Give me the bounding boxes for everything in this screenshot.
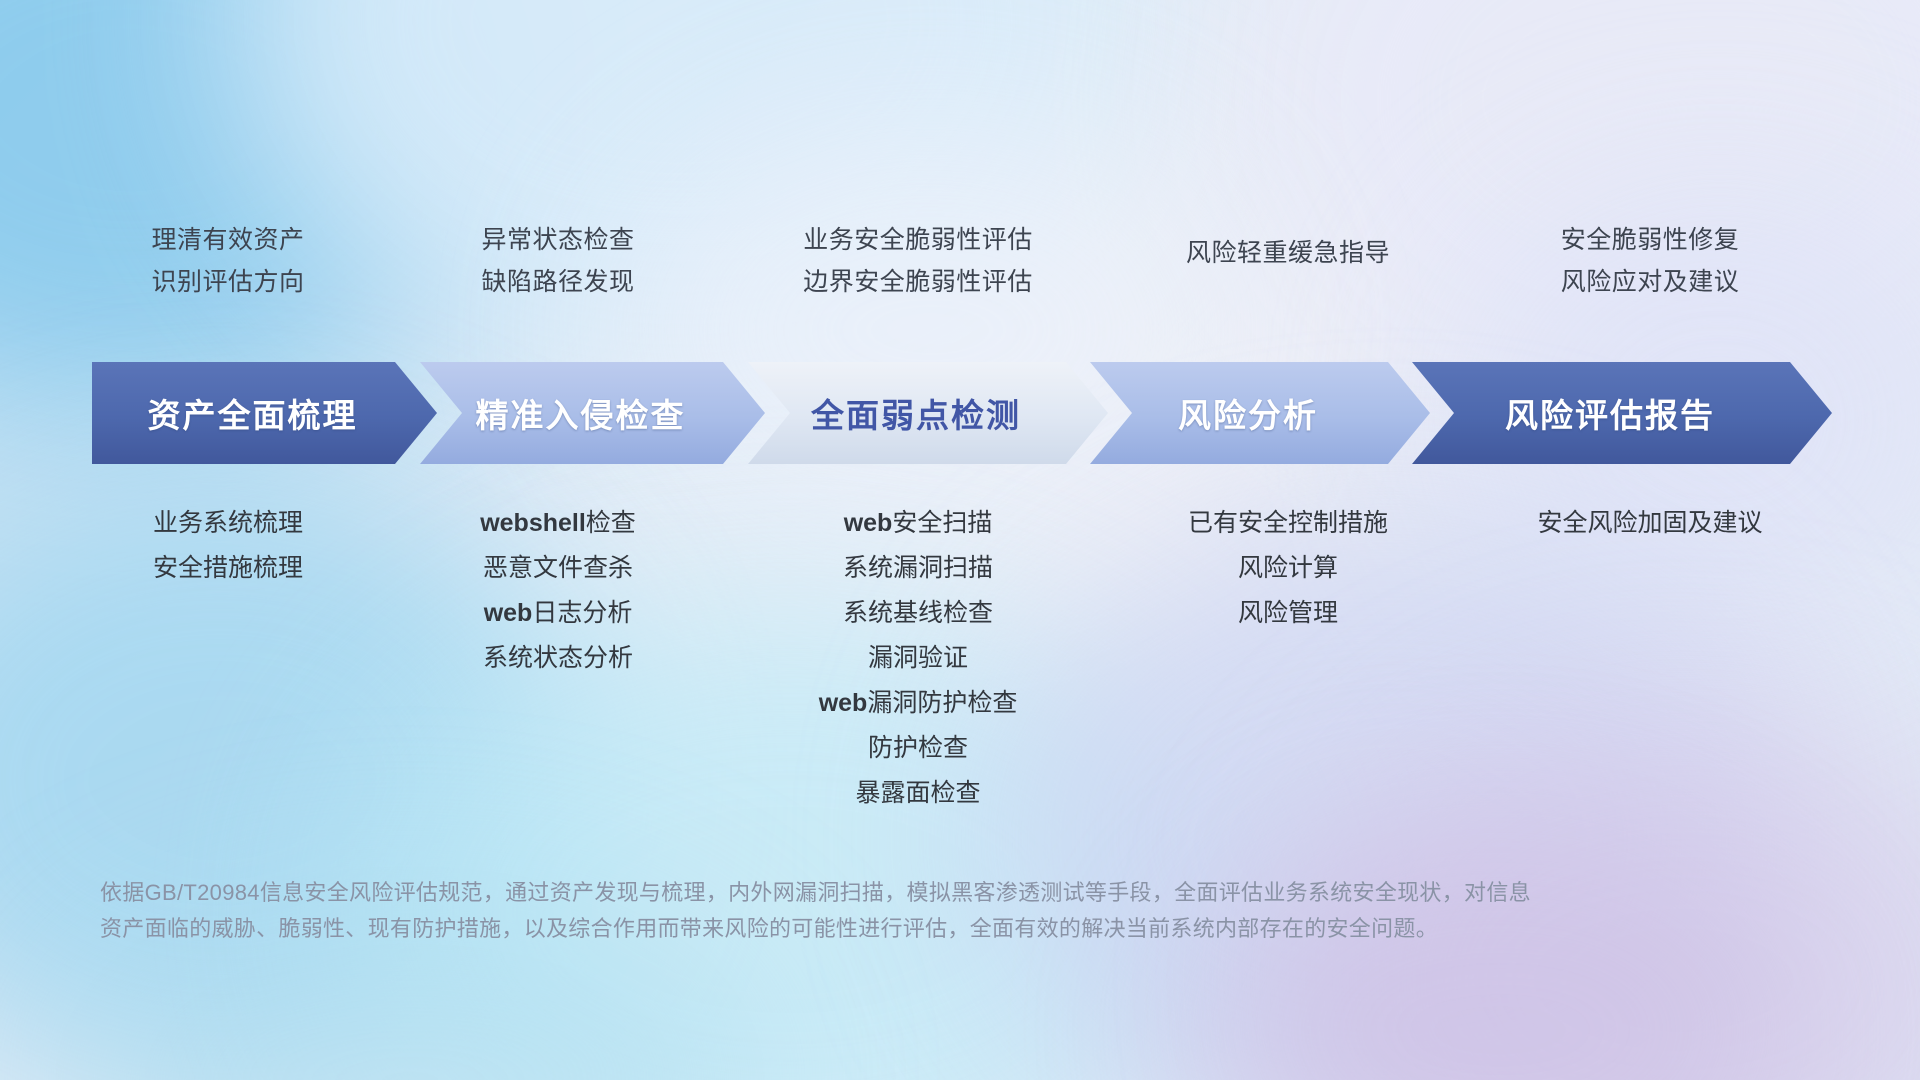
process-stage-intrusion-check[interactable]: 精准入侵检查 — [420, 362, 765, 464]
bottom-detail-item: web日志分析 — [484, 598, 633, 628]
background-blob — [340, 600, 1240, 1080]
top-annotation-item: 风险轻重缓急指导 — [1186, 238, 1390, 268]
bottom-detail-item-lead: web — [484, 599, 533, 627]
bottom-detail-item-lead: web — [844, 509, 893, 537]
footer-description: 依据GB/T20984信息安全风险评估规范，通过资产发现与梳理，内外网漏洞扫描，… — [100, 875, 1660, 946]
process-stage-risk-report[interactable]: 风险评估报告 — [1412, 362, 1832, 464]
bottom-detail-item: 已有安全控制措施 — [1188, 508, 1388, 538]
bottom-detail-item: 恶意文件查杀 — [483, 553, 633, 583]
bottom-detail-item-text: 漏洞防护检查 — [867, 689, 1017, 717]
process-stage-label: 资产全面梳理 — [148, 389, 358, 437]
bottom-detail-item: 漏洞验证 — [868, 643, 968, 673]
top-annotation-item: 边界安全脆弱性评估 — [803, 267, 1033, 297]
process-stage-label: 精准入侵检查 — [476, 389, 686, 437]
background-blob — [980, 520, 1800, 1080]
bottom-detail-item: web安全扫描 — [844, 508, 993, 538]
bottom-detail-item: 暴露面检查 — [856, 778, 981, 808]
background-blob — [0, 0, 520, 420]
bottom-detail-item: 安全风险加固及建议 — [1538, 508, 1763, 538]
bottom-detail-item-text: 安全扫描 — [892, 509, 992, 537]
bottom-detail-item: 系统基线检查 — [843, 598, 993, 628]
top-annotation-item: 缺陷路径发现 — [482, 267, 635, 297]
top-annotation-item: 风险应对及建议 — [1561, 267, 1740, 297]
top-annotation-item: 业务安全脆弱性评估 — [803, 225, 1033, 255]
process-stage-risk-analysis[interactable]: 风险分析 — [1090, 362, 1430, 464]
bottom-detail-item-lead: web — [819, 689, 868, 717]
background-blob — [1180, 820, 1820, 1080]
bottom-detail-item: 风险管理 — [1238, 598, 1338, 628]
process-stage-label: 全面弱点检测 — [811, 389, 1021, 437]
top-annotation-item: 识别评估方向 — [152, 267, 305, 297]
slide-canvas: 理清有效资产识别评估方向异常状态检查缺陷路径发现业务安全脆弱性评估边界安全脆弱性… — [0, 0, 1920, 1080]
bottom-detail-item: web漏洞防护检查 — [819, 688, 1018, 718]
bottom-detail-item: webshell检查 — [480, 508, 636, 538]
process-chevron-band: 资产全面梳理精准入侵检查全面弱点检测风险分析风险评估报告 — [0, 362, 1920, 464]
top-annotation-item: 理清有效资产 — [152, 225, 305, 255]
bottom-detail-item: 防护检查 — [868, 733, 968, 763]
footer-line-1: 依据GB/T20984信息安全风险评估规范，通过资产发现与梳理，内外网漏洞扫描，… — [100, 875, 1660, 911]
top-annotation-item: 异常状态检查 — [482, 225, 635, 255]
process-stage-weakness-detection[interactable]: 全面弱点检测 — [748, 362, 1108, 464]
bottom-detail-item: 安全措施梳理 — [153, 553, 303, 583]
process-stage-label: 风险评估报告 — [1505, 389, 1715, 437]
bottom-detail-item: 系统状态分析 — [483, 643, 633, 673]
process-stage-asset-inventory[interactable]: 资产全面梳理 — [92, 362, 437, 464]
top-annotation-item: 安全脆弱性修复 — [1561, 225, 1740, 255]
bottom-detail-item-text: 日志分析 — [532, 599, 632, 627]
bottom-detail-item-lead: webshell — [480, 509, 586, 537]
bottom-detail-item: 系统漏洞扫描 — [843, 553, 993, 583]
footer-line-2: 资产面临的威胁、脆弱性、现有防护措施，以及综合作用而带来风险的可能性进行评估，全… — [100, 911, 1660, 947]
process-stage-label: 风险分析 — [1178, 389, 1318, 437]
bottom-detail-item-text: 检查 — [586, 509, 636, 537]
background-blob — [230, 0, 1130, 370]
background-blob — [620, 120, 1240, 540]
bottom-detail-item: 风险计算 — [1238, 553, 1338, 583]
bottom-detail-item: 业务系统梳理 — [153, 508, 303, 538]
